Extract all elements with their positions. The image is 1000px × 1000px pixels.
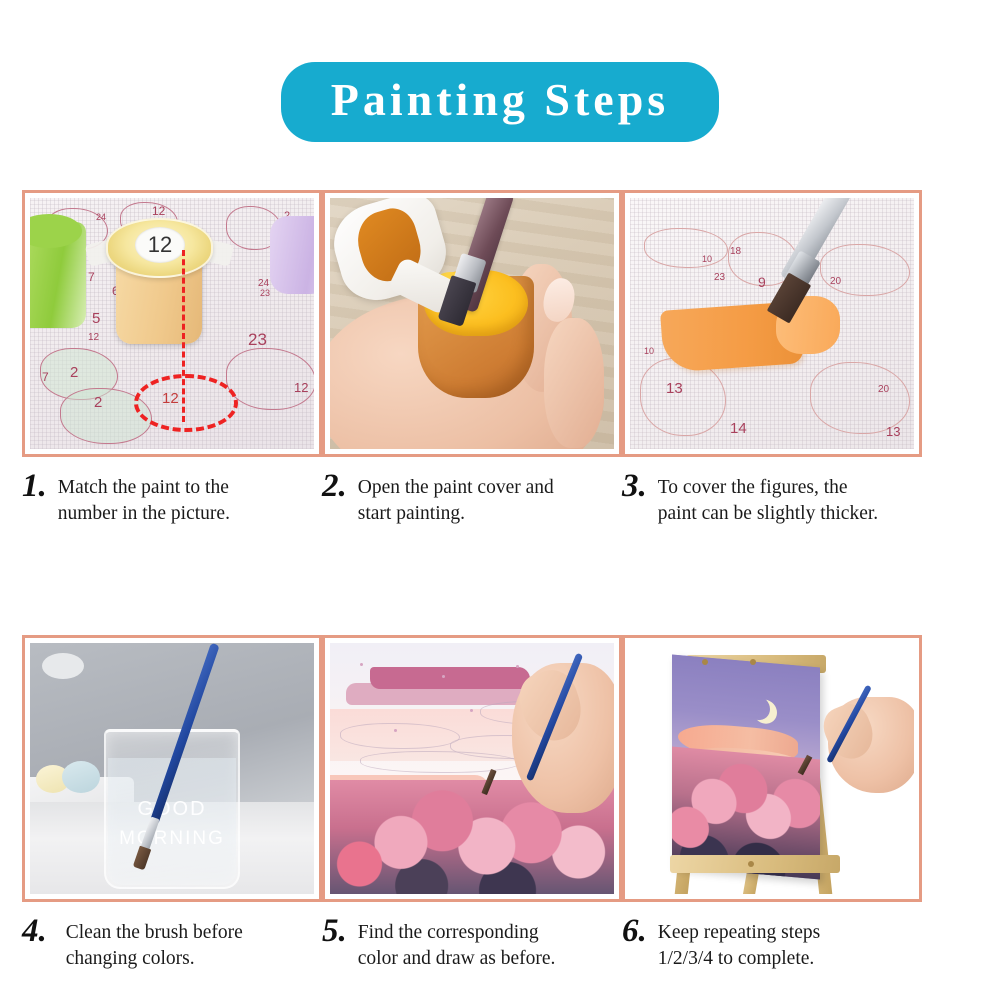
step-caption-6: 6. Keep repeating steps 1/2/3/4 to compl… bbox=[622, 916, 940, 972]
photo-frame-2 bbox=[322, 190, 622, 457]
column-gap bbox=[922, 527, 1000, 972]
number-dot bbox=[442, 675, 445, 678]
canvas-number: 20 bbox=[878, 384, 889, 395]
background-object bbox=[42, 653, 84, 679]
header-pill: Painting Steps bbox=[281, 62, 719, 142]
step-caption-5: 5. Find the corresponding color and draw… bbox=[322, 916, 640, 972]
step-text-5: Find the corresponding color and draw as… bbox=[358, 916, 556, 972]
canvas-number: 24 bbox=[96, 212, 106, 222]
red-dashed-highlight-ellipse bbox=[134, 374, 238, 432]
canvas-number: 5 bbox=[92, 310, 100, 327]
number-dot bbox=[516, 665, 519, 668]
step-number-6: 6. bbox=[622, 916, 658, 946]
canvas-number: 12 bbox=[88, 332, 99, 343]
step-number-3: 3. bbox=[622, 471, 658, 501]
glass-text-line-2: MORNING bbox=[106, 828, 238, 850]
page-title: Painting Steps bbox=[329, 76, 671, 124]
canvas-number: 12 bbox=[152, 204, 165, 218]
canvas-number: 2 bbox=[94, 394, 102, 411]
photo-frame-1: 12 24 2 7 6 5 23 12 2 7 24 23 12 2 bbox=[22, 190, 322, 457]
step-number-1: 1. bbox=[22, 471, 58, 501]
step-text-2: Open the paint cover and start painting. bbox=[358, 471, 554, 527]
brush-in-glass-of-water: GOOD MORNING bbox=[30, 643, 314, 894]
paint-pot-on-numbered-canvas: 12 24 2 7 6 5 23 12 2 7 24 23 12 2 bbox=[30, 198, 314, 449]
step-text-4: Clean the brush before changing colors. bbox=[58, 916, 243, 972]
step-text-3: To cover the figures, the paint can be s… bbox=[658, 471, 878, 527]
canvas-number: 23 bbox=[248, 330, 267, 350]
step-text-6: Keep repeating steps 1/2/3/4 to complete… bbox=[658, 916, 820, 972]
purple-paint-pot bbox=[270, 216, 314, 294]
canvas-number: 23 bbox=[260, 288, 270, 298]
canvas-number: 13 bbox=[666, 380, 683, 397]
canvas-number: 9 bbox=[758, 274, 766, 290]
step-card-2: 2. Open the paint cover and start painti… bbox=[322, 190, 622, 527]
hand-holding-open-paint-pot bbox=[330, 198, 614, 449]
step-number-2: 2. bbox=[322, 471, 358, 501]
canvas-number: 7 bbox=[42, 370, 49, 384]
step-card-5: 5. Find the corresponding color and draw… bbox=[322, 635, 622, 972]
brush-painting-orange-on-canvas: 10 18 23 9 20 20 13 14 20 10 13 bbox=[630, 198, 914, 449]
steps-grid: 12 24 2 7 6 5 23 12 2 7 24 23 12 2 bbox=[22, 190, 978, 972]
glass-text-line-1: GOOD bbox=[106, 798, 238, 821]
step-card-6: 6. Keep repeating steps 1/2/3/4 to compl… bbox=[622, 635, 922, 972]
number-dot bbox=[360, 663, 363, 666]
photo-frame-5 bbox=[322, 635, 622, 902]
photo-frame-6 bbox=[622, 635, 922, 902]
step-caption-4: 4. Clean the brush before changing color… bbox=[22, 916, 340, 972]
header: Painting Steps bbox=[0, 62, 1000, 142]
canvas-number: 20 bbox=[830, 276, 841, 287]
canvas-shape bbox=[644, 228, 728, 268]
finger bbox=[544, 318, 604, 448]
number-dot bbox=[394, 729, 397, 732]
canvas-outline bbox=[340, 723, 460, 749]
canvas-number: 14 bbox=[730, 420, 747, 437]
step-text-1: Match the paint to the number in the pic… bbox=[58, 471, 230, 527]
target-canvas-number: 12 bbox=[162, 390, 179, 407]
number-dot bbox=[470, 709, 473, 712]
step-number-5: 5. bbox=[322, 916, 358, 946]
easel-peg bbox=[748, 861, 754, 867]
canvas-outline bbox=[360, 751, 520, 773]
canvas-number: 13 bbox=[886, 424, 900, 439]
step-card-3: 10 18 23 9 20 20 13 14 20 10 13 bbox=[622, 190, 922, 527]
canvas-number: 12 bbox=[294, 380, 308, 395]
canvas-number: 18 bbox=[730, 246, 741, 257]
step-caption-1: 1. Match the paint to the number in the … bbox=[22, 471, 340, 527]
photo-frame-4: GOOD MORNING bbox=[22, 635, 322, 902]
background-object bbox=[62, 761, 100, 793]
painting-steps-infographic: Painting Steps 12 24 2 7 6 bbox=[0, 0, 1000, 1000]
step-caption-2: 2. Open the paint cover and start painti… bbox=[322, 471, 640, 527]
canvas-number: 10 bbox=[702, 254, 712, 264]
step-number-4: 4. bbox=[22, 916, 58, 946]
canvas-number: 2 bbox=[70, 364, 78, 381]
canvas-number: 7 bbox=[88, 270, 95, 284]
photo-frame-3: 10 18 23 9 20 20 13 14 20 10 13 bbox=[622, 190, 922, 457]
easel-crossbar bbox=[670, 855, 840, 873]
step-card-1: 12 24 2 7 6 5 23 12 2 7 24 23 12 2 bbox=[22, 190, 322, 527]
finished-painting-on-easel bbox=[630, 643, 914, 894]
easel-peg bbox=[702, 659, 708, 665]
step-caption-3: 3. To cover the figures, the paint can b… bbox=[622, 471, 940, 527]
finished-painting bbox=[672, 655, 820, 880]
easel-peg bbox=[750, 659, 756, 665]
cloud-band bbox=[370, 667, 530, 689]
hand-painting-cherry-blossom-canvas bbox=[330, 643, 614, 894]
step-card-4: GOOD MORNING 4. Clean the brush before c… bbox=[22, 635, 322, 972]
canvas-number: 10 bbox=[644, 346, 654, 356]
green-paint-pot bbox=[30, 222, 86, 328]
canvas-shape bbox=[226, 348, 314, 410]
canvas-number: 23 bbox=[714, 272, 725, 283]
pot-number-label: 12 bbox=[135, 227, 185, 263]
